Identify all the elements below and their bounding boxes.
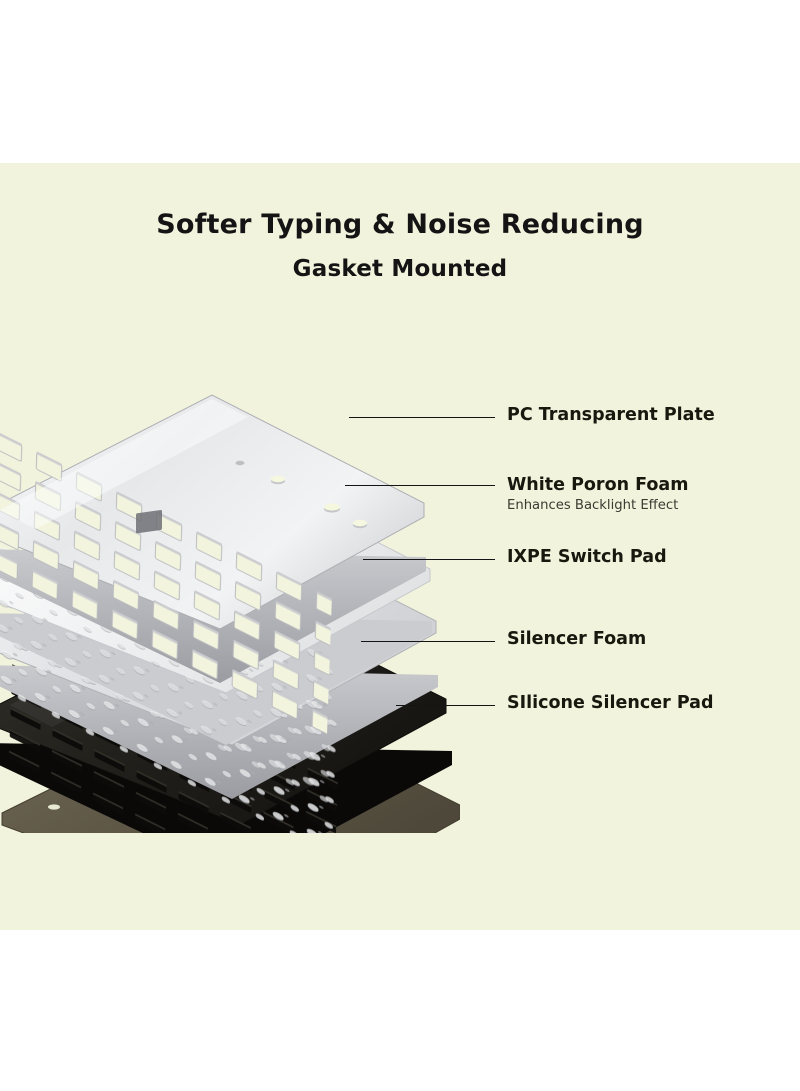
callout-title: IXPE Switch Pad: [507, 547, 667, 568]
infographic-canvas: Softer Typing & Noise Reducing Gasket Mo…: [0, 0, 800, 1091]
callout-silencer-foam: Silencer Foam: [507, 629, 646, 650]
page-title: Softer Typing & Noise Reducing: [0, 209, 800, 240]
callout-title: Silencer Foam: [507, 629, 646, 650]
callout-pc-transparent-plate: PC Transparent Plate: [507, 405, 715, 426]
product-panel: Softer Typing & Noise Reducing Gasket Mo…: [0, 163, 800, 930]
leader-line-pc-transparent-plate: [349, 417, 495, 418]
exploded-keyboard-diagram: [0, 313, 460, 833]
callout-silicone-silencer-pad: SIlicone Silencer Pad: [507, 693, 714, 714]
leader-line-silencer-foam: [361, 641, 495, 642]
callout-title: SIlicone Silencer Pad: [507, 693, 714, 714]
page-subtitle: Gasket Mounted: [0, 256, 800, 282]
leader-line-ixpe-switch-pad: [363, 559, 495, 560]
callout-subtitle: Enhances Backlight Effect: [507, 497, 688, 515]
leader-line-white-poron-foam: [345, 485, 495, 486]
callout-title: White Poron Foam: [507, 475, 688, 496]
callout-title: PC Transparent Plate: [507, 405, 715, 426]
callout-ixpe-switch-pad: IXPE Switch Pad: [507, 547, 667, 568]
callout-white-poron-foam: White Poron Foam Enhances Backlight Effe…: [507, 475, 688, 515]
leader-line-silicone-silencer-pad: [396, 705, 495, 706]
